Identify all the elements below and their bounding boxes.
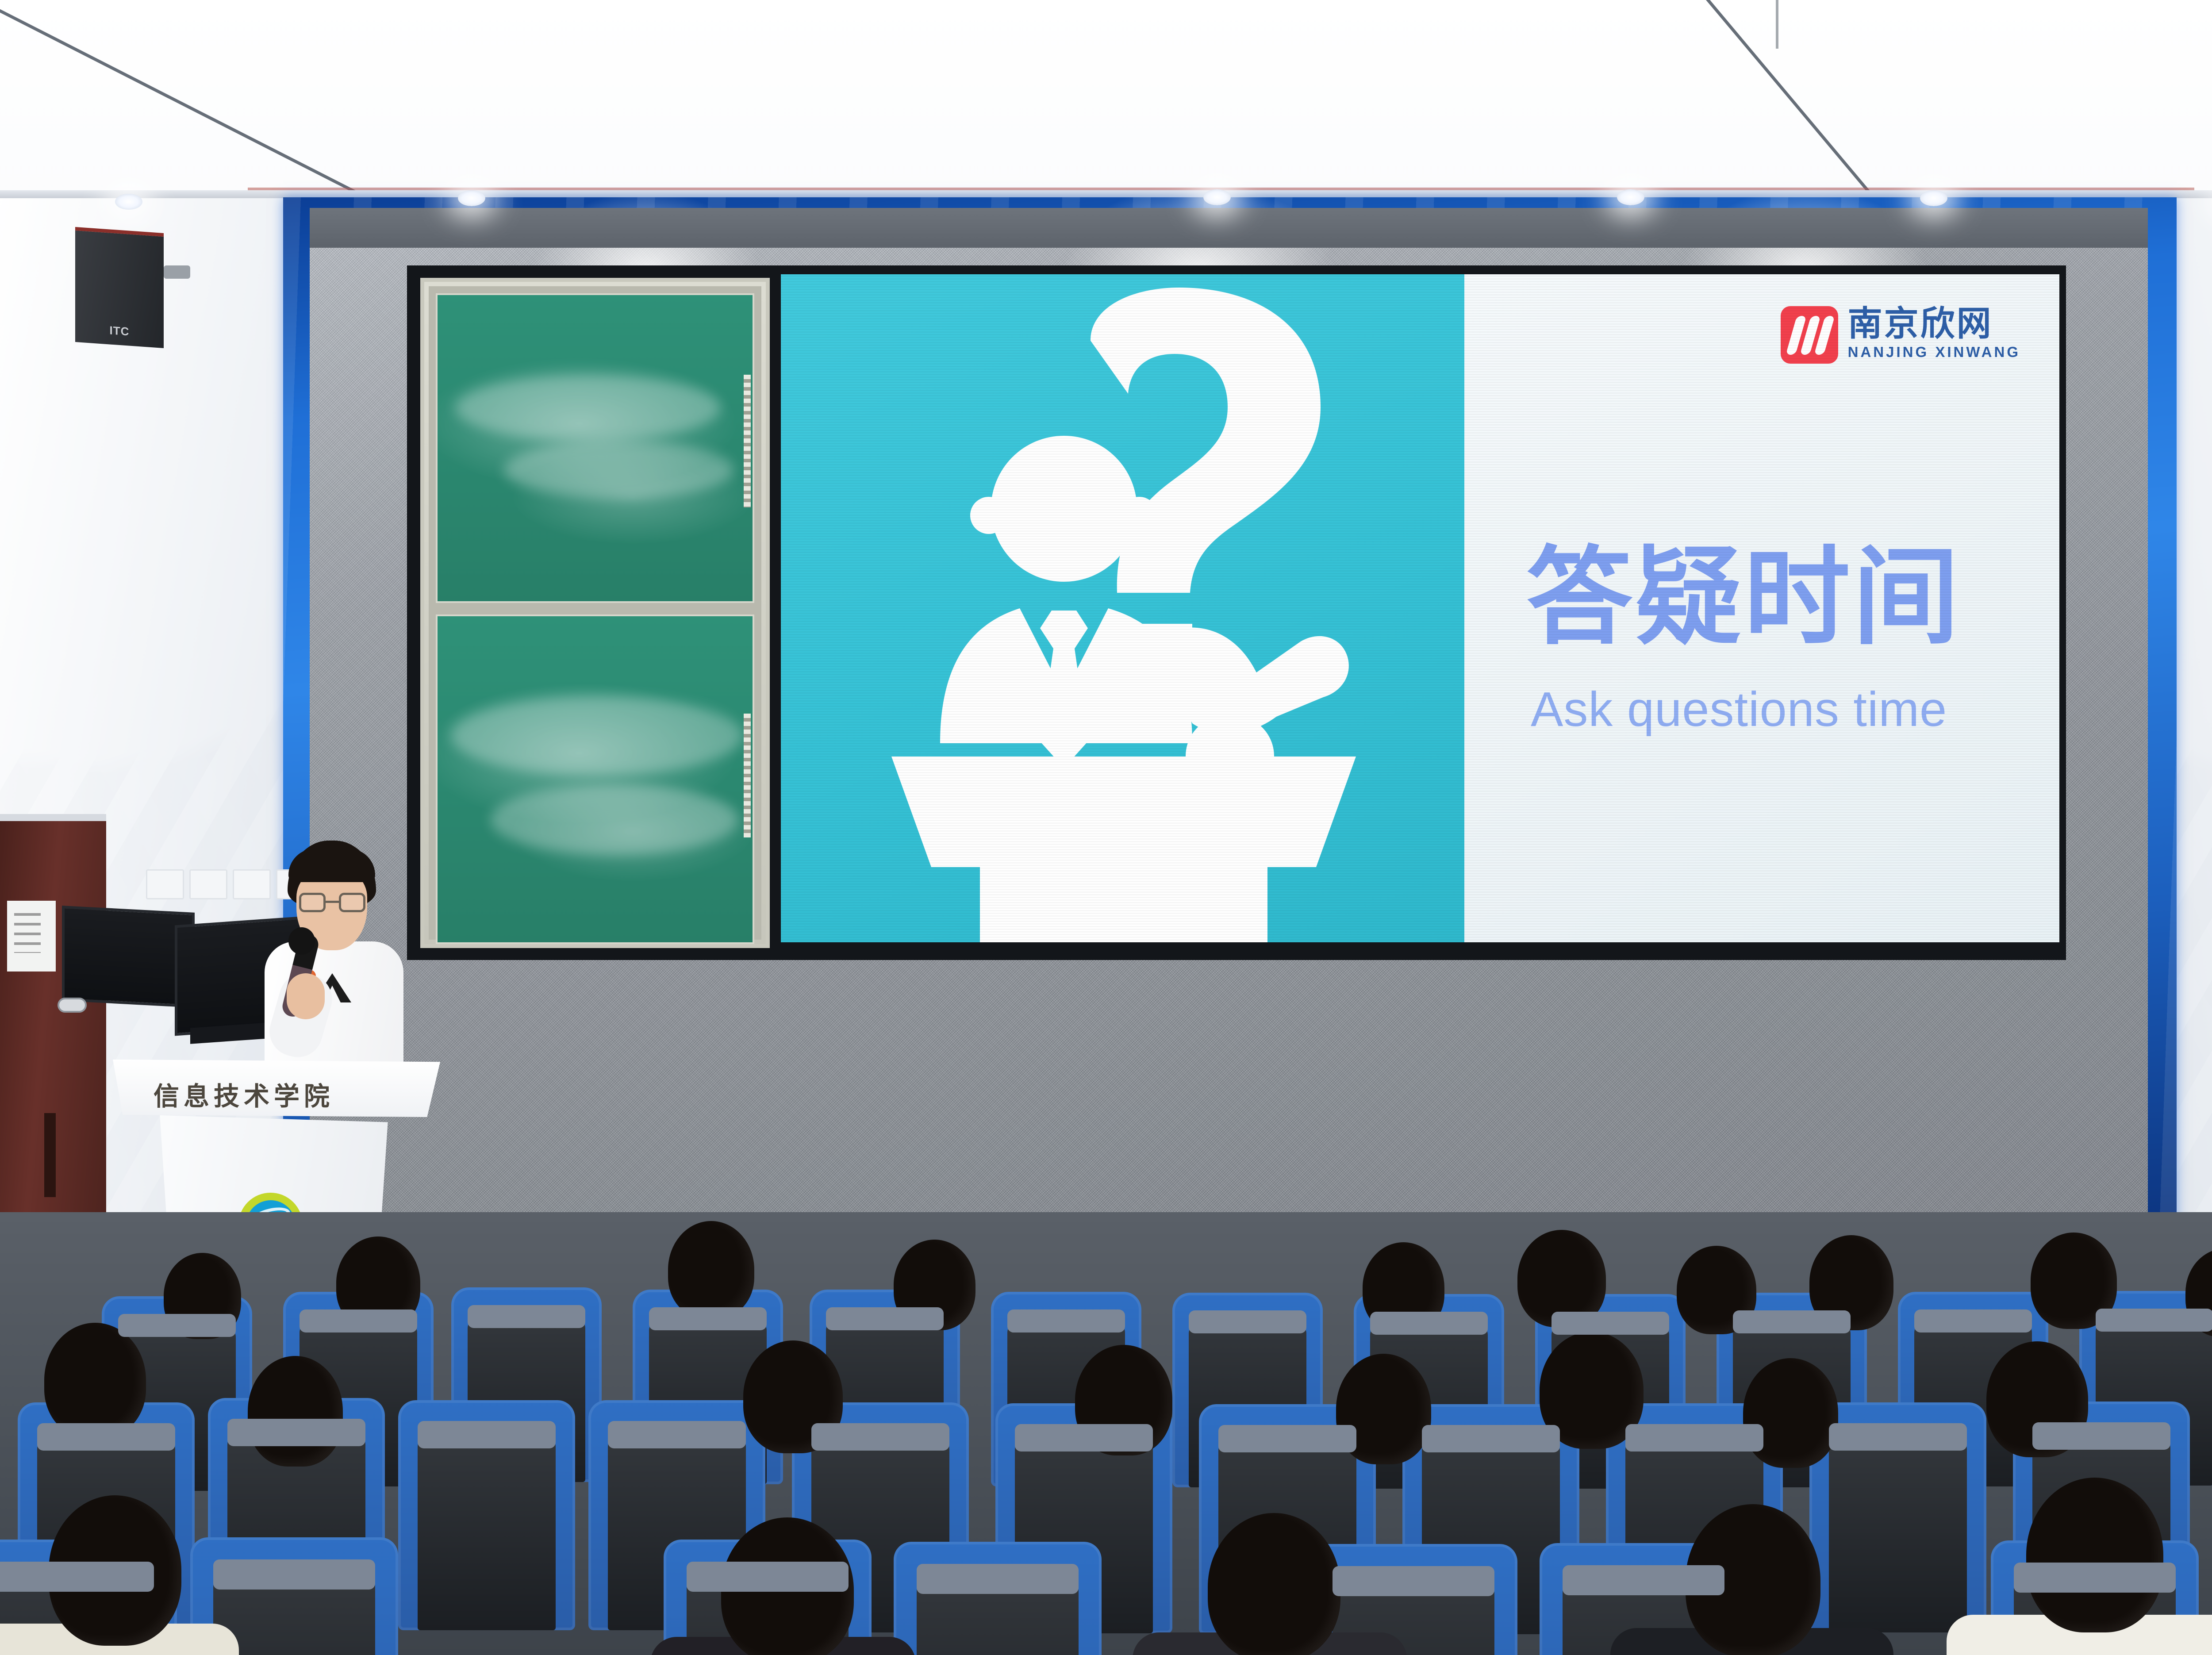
presenter <box>261 841 407 1075</box>
chalkboard-panel-bottom <box>436 614 754 944</box>
ceiling-spotlight <box>1617 189 1644 205</box>
chalk-smear <box>504 441 734 499</box>
audience-head <box>2026 1478 2163 1632</box>
audience-area <box>0 1212 2212 1655</box>
chalkboard-rail-bottom <box>744 714 751 837</box>
webcam <box>58 998 87 1013</box>
lecture-hall-photo: 南京欣网 NANJING XINWANG 答疑时间 Ask questions … <box>0 0 2212 1655</box>
seat[interactable] <box>398 1400 575 1630</box>
logo-english-name: NANJING XINWANG <box>1848 341 2020 363</box>
chalk-smear <box>455 375 721 441</box>
door-handle[interactable] <box>44 1113 56 1197</box>
question-mark-podium-icon <box>781 274 1464 942</box>
seat[interactable] <box>894 1542 1102 1655</box>
ceiling-spotlight <box>1920 190 1947 206</box>
audience-head <box>248 1356 343 1467</box>
ceiling-seam-vertical <box>1776 0 1778 49</box>
stage-wall-top-band <box>310 208 2148 248</box>
audience-head <box>44 1323 146 1438</box>
chalk-smear <box>451 696 743 776</box>
chalkboard-frame <box>420 278 770 948</box>
slide-title: 答疑时间 <box>1526 544 1962 650</box>
ceiling-spotlight <box>1203 189 1231 205</box>
ceiling-spotlight <box>458 190 485 206</box>
audience-head <box>668 1221 754 1318</box>
light-switch[interactable] <box>189 869 227 899</box>
door-sign <box>7 901 56 971</box>
ceiling-seam-left <box>0 0 368 199</box>
seat[interactable] <box>1809 1402 1986 1632</box>
ceiling-spotlight <box>115 194 142 210</box>
presentation-slide: 南京欣网 NANJING XINWANG 答疑时间 Ask questions … <box>781 274 2059 942</box>
slide-text-panel: 南京欣网 NANJING XINWANG 答疑时间 Ask questions … <box>1464 274 2059 942</box>
logo-wordmark: 南京欣网 NANJING XINWANG <box>1848 307 2020 363</box>
wall-speaker-left <box>75 227 164 348</box>
company-logo: 南京欣网 NANJING XINWANG <box>1781 306 2020 364</box>
light-switch[interactable] <box>146 869 184 899</box>
lectern-label: 信息技术学院 <box>154 1075 334 1113</box>
presenter-glasses <box>299 893 365 912</box>
logo-mark-icon <box>1781 306 1838 364</box>
presenter-hair-front <box>288 849 375 882</box>
slide-graphic-panel <box>781 274 1464 942</box>
chalkboard-inner-frame <box>429 286 761 940</box>
presenter-hand <box>287 973 325 1019</box>
slide-subtitle: Ask questions time <box>1531 681 1947 737</box>
chalk-smear <box>491 784 738 855</box>
audience-head <box>1208 1513 1340 1655</box>
logo-chinese-name: 南京欣网 <box>1848 307 2020 341</box>
chalkboard-rail-top <box>744 375 751 507</box>
chalkboard-panel-top <box>436 293 754 603</box>
ceiling <box>0 0 2212 208</box>
speaker-mount-left <box>164 265 190 279</box>
microphone-head-icon <box>288 927 315 955</box>
